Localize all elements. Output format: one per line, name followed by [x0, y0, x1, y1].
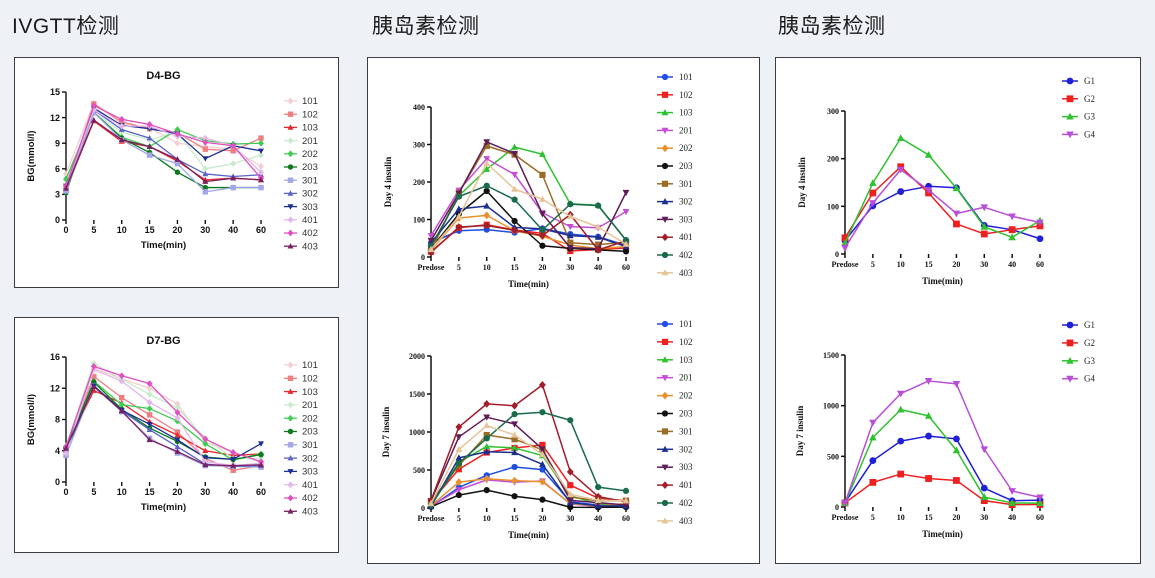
- legend-label[interactable]: 103: [679, 355, 693, 365]
- data-point: [539, 497, 545, 503]
- x-tick-label: 20: [952, 513, 960, 522]
- legend-marker: [1067, 95, 1074, 102]
- x-tick-label: 15: [925, 513, 933, 522]
- y-axis-label: BG(mmol/l): [26, 130, 37, 181]
- x-tick-label: 60: [622, 263, 630, 272]
- x-tick-label: 60: [256, 487, 266, 497]
- legend-marker: [288, 376, 293, 381]
- data-point: [897, 134, 904, 141]
- data-point: [981, 231, 988, 238]
- x-tick-label: 60: [1036, 513, 1044, 522]
- data-point: [869, 190, 876, 197]
- x-tick-label: 40: [228, 225, 238, 235]
- legend-label[interactable]: 201: [302, 136, 318, 147]
- data-point: [897, 471, 904, 478]
- y-tick-label: 1500: [409, 390, 425, 399]
- x-tick-label: 30: [200, 225, 210, 235]
- x-tick-label: 15: [145, 487, 155, 497]
- data-point: [981, 485, 988, 492]
- legend-label[interactable]: 103: [679, 108, 693, 118]
- legend-marker: [662, 410, 668, 416]
- legend-label[interactable]: 201: [679, 373, 693, 383]
- data-point: [511, 197, 517, 203]
- chart-d4-bg: D4-BG0369121505101520304060Time(min)BG(m…: [16, 59, 337, 286]
- y-tick-label: 200: [413, 178, 425, 187]
- x-tick-label: Predose: [418, 263, 445, 272]
- x-axis-label: Time(min): [922, 529, 963, 539]
- legend-label[interactable]: G1: [1084, 76, 1095, 86]
- x-axis-label: Time(min): [922, 276, 963, 286]
- data-point: [925, 151, 932, 158]
- legend-marker: [662, 392, 669, 400]
- legend-label[interactable]: 102: [302, 374, 318, 385]
- legend-label[interactable]: 101: [679, 319, 693, 329]
- data-point: [567, 417, 573, 423]
- chart-day4-insulin-group: 0100200300Predose5101520304060Time(min)D…: [777, 59, 1139, 309]
- legend-label[interactable]: G3: [1084, 356, 1095, 366]
- legend-marker: [1067, 340, 1074, 347]
- legend-label[interactable]: 402: [302, 493, 318, 504]
- data-point: [230, 160, 236, 167]
- legend-label[interactable]: 402: [302, 228, 318, 239]
- y-axis-label: Day 4 insulin: [383, 157, 393, 208]
- y-tick-label: 9: [55, 138, 60, 148]
- chart-day7-insulin-individual: 0500100015002000Predose5101520304060Time…: [369, 309, 758, 562]
- data-point: [511, 218, 517, 224]
- legend-label[interactable]: 202: [679, 143, 693, 153]
- data-point: [511, 477, 518, 485]
- legend-marker: [288, 481, 294, 488]
- data-point: [539, 243, 545, 249]
- data-point: [456, 460, 462, 466]
- data-point: [623, 488, 629, 494]
- legend-label[interactable]: 303: [679, 462, 693, 472]
- data-point: [897, 188, 904, 195]
- y-tick-label: 100: [413, 216, 425, 225]
- legend-label[interactable]: G3: [1084, 112, 1095, 122]
- x-tick-label: 5: [871, 260, 875, 269]
- x-tick-label: 20: [538, 514, 546, 523]
- y-tick-label: 300: [413, 141, 425, 150]
- y-tick-label: 0: [55, 215, 60, 225]
- legend-marker: [662, 181, 668, 187]
- x-axis-label: Time(min): [508, 530, 549, 540]
- x-tick-label: 10: [117, 487, 127, 497]
- y-tick-label: 4: [55, 446, 60, 456]
- series-line: [66, 382, 261, 459]
- data-point: [1009, 226, 1016, 233]
- legend-label[interactable]: 301: [679, 426, 693, 436]
- x-tick-label: 0: [63, 487, 68, 497]
- legend-marker: [288, 150, 294, 157]
- y-tick-label: 0: [421, 253, 425, 262]
- x-tick-label: 5: [457, 263, 461, 272]
- screenshot-root: IVGTT检测 胰岛素检测 胰岛素检测 D4-BG036912150510152…: [0, 0, 1155, 578]
- series-line: [845, 436, 1040, 502]
- data-point: [230, 185, 235, 190]
- data-point: [869, 479, 876, 486]
- legend-label[interactable]: 303: [302, 202, 318, 213]
- chart-day7-insulin-group: 050010001500Predose5101520304060Time(min…: [777, 309, 1139, 562]
- chart-svg: 0100200300Predose5101520304060Time(min)D…: [777, 59, 1139, 309]
- data-point: [869, 457, 876, 464]
- x-tick-label: 20: [172, 487, 182, 497]
- x-tick-label: 5: [91, 487, 96, 497]
- data-point: [456, 492, 462, 498]
- legend-label[interactable]: 201: [679, 125, 693, 135]
- legend-label[interactable]: 101: [679, 72, 693, 82]
- data-point: [925, 433, 932, 440]
- data-point: [567, 482, 573, 488]
- legend-marker: [288, 164, 293, 169]
- legend-label[interactable]: 403: [679, 516, 693, 526]
- data-point: [567, 201, 573, 207]
- legend-label[interactable]: 101: [302, 360, 318, 371]
- legend-label[interactable]: 403: [302, 241, 318, 252]
- legend-marker: [662, 428, 668, 434]
- legend-label[interactable]: 202: [302, 413, 318, 424]
- data-point: [595, 203, 601, 209]
- legend-label[interactable]: 401: [679, 480, 693, 490]
- legend-marker: [662, 92, 668, 98]
- data-point: [258, 163, 264, 170]
- x-tick-label: 40: [594, 263, 602, 272]
- chart-svg: 0100200300400Predose5101520304060Time(mi…: [369, 59, 758, 309]
- legend-marker: [288, 216, 294, 223]
- data-point: [869, 420, 876, 427]
- series-line: [66, 381, 261, 460]
- data-point: [841, 245, 848, 252]
- data-point: [623, 248, 629, 254]
- x-tick-label: 0: [63, 225, 68, 235]
- legend-label[interactable]: 102: [679, 337, 693, 347]
- legend-label[interactable]: 301: [679, 179, 693, 189]
- legend-label[interactable]: 401: [302, 215, 318, 226]
- legend-marker: [288, 362, 294, 369]
- data-point: [202, 448, 208, 453]
- y-axis-label: Day 7 insulin: [795, 406, 805, 457]
- x-axis-label: Time(min): [141, 240, 186, 251]
- data-point: [511, 411, 517, 417]
- legend-label[interactable]: 401: [302, 480, 318, 491]
- data-point: [147, 412, 152, 417]
- legend-label[interactable]: 401: [679, 232, 693, 242]
- legend-marker: [288, 415, 294, 422]
- legend-marker: [288, 495, 294, 502]
- x-tick-label: Predose: [832, 260, 859, 269]
- y-tick-label: 15: [50, 87, 60, 97]
- x-tick-label: 60: [622, 514, 630, 523]
- legend-label[interactable]: 202: [302, 149, 318, 160]
- data-point: [174, 444, 180, 449]
- data-point: [484, 183, 490, 189]
- y-tick-label: 12: [50, 383, 60, 393]
- data-point: [258, 185, 263, 190]
- data-point: [925, 475, 932, 482]
- y-tick-label: 100: [827, 202, 839, 211]
- data-point: [981, 493, 988, 500]
- legend-marker: [662, 500, 668, 506]
- x-tick-label: 60: [1036, 260, 1044, 269]
- data-point: [258, 441, 264, 446]
- legend-label[interactable]: 102: [302, 109, 318, 120]
- data-point: [202, 156, 208, 161]
- section-title-insulin-individual: 胰岛素检测: [372, 10, 480, 40]
- x-tick-label: Predose: [832, 513, 859, 522]
- chart-day4-insulin-individual: 0100200300400Predose5101520304060Time(mi…: [369, 59, 758, 309]
- legend-marker: [288, 442, 293, 447]
- x-tick-label: 10: [897, 513, 905, 522]
- legend-label[interactable]: G4: [1084, 129, 1095, 139]
- y-tick-label: 300: [827, 107, 839, 116]
- x-tick-label: 20: [952, 260, 960, 269]
- data-point: [456, 194, 462, 200]
- legend-label[interactable]: G2: [1084, 94, 1095, 104]
- chart-title: D7-BG: [146, 335, 180, 347]
- y-tick-label: 500: [413, 466, 425, 475]
- x-tick-label: 40: [1008, 260, 1016, 269]
- legend-label[interactable]: 102: [679, 90, 693, 100]
- data-point: [203, 189, 208, 194]
- legend-label[interactable]: 302: [302, 189, 318, 200]
- legend-label[interactable]: 203: [302, 427, 318, 438]
- legend-marker: [288, 98, 294, 105]
- y-tick-label: 500: [827, 452, 839, 461]
- data-point: [511, 464, 517, 470]
- legend-label[interactable]: 301: [302, 440, 318, 451]
- y-tick-label: 0: [835, 250, 839, 259]
- data-point: [539, 227, 545, 233]
- data-point: [147, 391, 153, 398]
- legend-label[interactable]: G4: [1084, 374, 1095, 384]
- data-point: [953, 436, 960, 443]
- legend-marker: [662, 163, 668, 169]
- x-tick-label: 15: [925, 260, 933, 269]
- x-tick-label: 10: [117, 225, 127, 235]
- legend-label[interactable]: G2: [1084, 338, 1095, 348]
- y-axis-label: Day 7 insulin: [381, 407, 391, 458]
- y-tick-label: 1000: [409, 428, 425, 437]
- legend-marker: [288, 137, 294, 144]
- chart-svg: D4-BG0369121505101520304060Time(min)BG(m…: [16, 59, 337, 286]
- y-tick-label: 2000: [409, 352, 425, 361]
- data-point: [511, 493, 517, 499]
- x-tick-label: 15: [511, 514, 519, 523]
- data-point: [147, 152, 152, 157]
- x-tick-label: 60: [256, 225, 266, 235]
- legend-label[interactable]: 101: [302, 96, 318, 107]
- y-tick-label: 0: [55, 477, 60, 487]
- x-tick-label: 5: [871, 513, 875, 522]
- x-tick-label: Predose: [418, 514, 445, 523]
- legend-marker: [662, 481, 669, 489]
- data-point: [119, 395, 124, 400]
- legend-label[interactable]: 302: [679, 444, 693, 454]
- chart-svg: 0500100015002000Predose5101520304060Time…: [369, 309, 758, 562]
- y-tick-label: 0: [421, 504, 425, 513]
- x-tick-label: 10: [897, 260, 905, 269]
- data-point: [484, 487, 490, 493]
- x-tick-label: 5: [91, 225, 96, 235]
- x-tick-label: 30: [566, 514, 574, 523]
- data-point: [258, 149, 264, 154]
- section-title-insulin-group: 胰岛素检测: [778, 10, 886, 40]
- y-tick-label: 200: [827, 155, 839, 164]
- data-point: [539, 409, 545, 415]
- legend-marker: [662, 74, 668, 80]
- legend-marker: [288, 429, 293, 434]
- data-point: [175, 161, 180, 166]
- legend-label[interactable]: 402: [679, 250, 693, 260]
- legend-label[interactable]: 203: [302, 162, 318, 173]
- data-point: [623, 209, 630, 215]
- legend-marker: [662, 144, 669, 152]
- data-point: [1037, 235, 1044, 242]
- legend-marker: [662, 339, 668, 345]
- legend-label[interactable]: 403: [679, 268, 693, 278]
- legend-marker: [662, 233, 669, 241]
- data-point: [483, 212, 490, 220]
- legend-label[interactable]: G1: [1084, 320, 1095, 330]
- legend-label[interactable]: 202: [679, 391, 693, 401]
- y-tick-label: 3: [55, 190, 60, 200]
- x-tick-label: 30: [980, 513, 988, 522]
- data-point: [623, 190, 630, 196]
- x-tick-label: 10: [483, 263, 491, 272]
- data-point: [897, 406, 904, 413]
- x-tick-label: 40: [228, 487, 238, 497]
- legend-label[interactable]: 302: [302, 453, 318, 464]
- section-title-ivgtt: IVGTT检测: [12, 10, 119, 40]
- y-tick-label: 0: [835, 503, 839, 512]
- legend-marker: [288, 230, 294, 237]
- legend-marker: [662, 252, 668, 258]
- x-tick-label: 10: [483, 514, 491, 523]
- x-tick-label: 30: [980, 260, 988, 269]
- data-point: [175, 170, 180, 175]
- legend-label[interactable]: 201: [302, 400, 318, 411]
- data-point: [511, 144, 518, 150]
- data-point: [595, 484, 601, 490]
- y-axis-label: BG(mmol/l): [26, 394, 37, 445]
- y-tick-label: 16: [50, 352, 60, 362]
- legend-label[interactable]: 303: [302, 467, 318, 478]
- data-point: [483, 422, 490, 428]
- legend-label[interactable]: 403: [302, 507, 318, 518]
- legend-marker: [662, 321, 668, 327]
- chart-svg: 050010001500Predose5101520304060Time(min…: [777, 309, 1139, 562]
- legend-marker: [288, 112, 293, 117]
- y-axis-label: Day 4 insulin: [797, 157, 807, 208]
- legend-label[interactable]: 301: [302, 175, 318, 186]
- y-tick-label: 400: [413, 103, 425, 112]
- x-tick-label: 20: [172, 225, 182, 235]
- data-point: [484, 435, 490, 441]
- y-tick-label: 12: [50, 113, 60, 123]
- x-axis-label: Time(min): [508, 279, 549, 289]
- chart-title: D4-BG: [146, 70, 180, 82]
- x-tick-label: 40: [1008, 513, 1016, 522]
- series-line: [66, 386, 261, 459]
- x-tick-label: 5: [457, 514, 461, 523]
- y-tick-label: 1000: [823, 402, 839, 411]
- x-tick-label: 15: [145, 225, 155, 235]
- data-point: [203, 146, 208, 151]
- legend-marker: [288, 402, 294, 409]
- chart-svg: D7-BG048121605101520304060Time(min)BG(mm…: [16, 319, 337, 551]
- data-point: [147, 405, 153, 412]
- x-axis-label: Time(min): [141, 502, 186, 513]
- y-tick-label: 8: [55, 415, 60, 425]
- x-tick-label: 40: [594, 514, 602, 523]
- data-point: [953, 211, 960, 218]
- data-point: [953, 221, 960, 228]
- x-tick-label: 30: [566, 263, 574, 272]
- data-point: [953, 477, 960, 484]
- data-point: [258, 452, 263, 457]
- legend-label[interactable]: 203: [679, 409, 693, 419]
- legend-marker: [1067, 78, 1074, 85]
- data-point: [897, 438, 904, 445]
- legend-label[interactable]: 203: [679, 161, 693, 171]
- legend-marker: [288, 178, 293, 183]
- legend-label[interactable]: 303: [679, 214, 693, 224]
- legend-marker: [1067, 322, 1074, 329]
- legend-label[interactable]: 402: [679, 498, 693, 508]
- data-point: [953, 381, 960, 388]
- x-tick-label: 15: [511, 263, 519, 272]
- y-tick-label: 1500: [823, 351, 839, 360]
- chart-d7-bg: D7-BG048121605101520304060Time(min)BG(mm…: [16, 319, 337, 551]
- data-point: [174, 140, 180, 147]
- data-point: [539, 172, 545, 178]
- x-tick-label: 30: [200, 487, 210, 497]
- x-tick-label: 20: [538, 263, 546, 272]
- y-tick-label: 6: [55, 164, 60, 174]
- legend-label[interactable]: 103: [302, 387, 318, 398]
- data-point: [258, 140, 264, 147]
- legend-label[interactable]: 302: [679, 197, 693, 207]
- legend-label[interactable]: 103: [302, 123, 318, 134]
